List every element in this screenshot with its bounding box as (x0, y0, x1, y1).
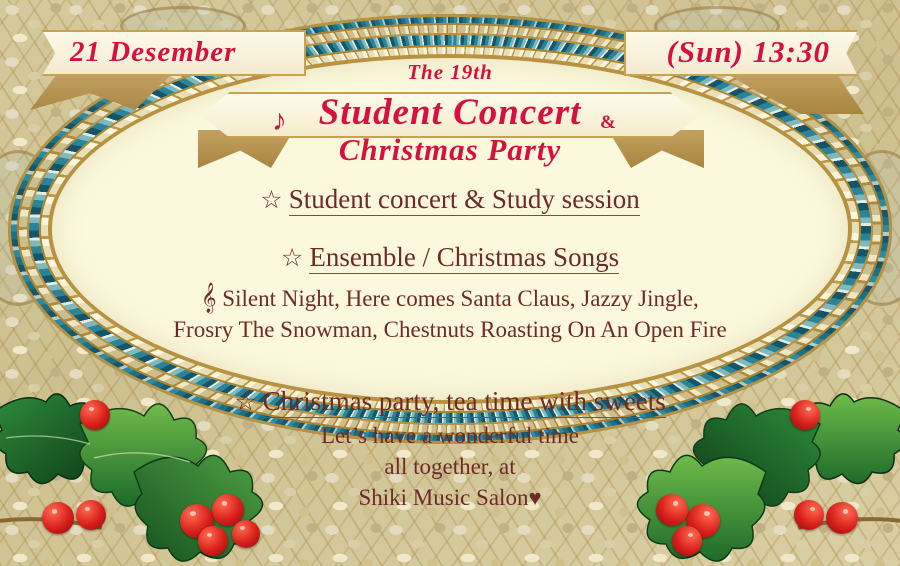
star-icon: ☆ (281, 245, 303, 272)
holly-right-svg (586, 372, 900, 566)
holly-berry (790, 400, 820, 430)
holly-berry (656, 494, 688, 526)
closing-line-1: Let’s have a wonderful time (321, 423, 579, 448)
song-list: 𝄞 Silent Night, Here comes Santa Claus, … (0, 282, 900, 345)
ampersand-icon: & (600, 112, 616, 134)
program-item-1: ☆Student concert & Study session (0, 182, 900, 218)
christmas-concert-flyer: 21 Desember (Sun) 13:30 The 19th Student… (0, 0, 900, 566)
holly-berry (76, 500, 106, 530)
holly-left-svg (0, 372, 314, 566)
heart-icon: ♥ (528, 485, 541, 510)
holly-decoration-right (586, 372, 900, 566)
closing-line-2: all together, at (384, 454, 515, 479)
holly-berry (672, 526, 702, 556)
holly-berry (826, 502, 858, 534)
music-note-icon: ♪ (272, 104, 287, 138)
program-item-2: ☆Ensemble / Christmas Songs (0, 240, 900, 276)
holly-berry (198, 526, 228, 556)
title-prefix: The 19th (0, 60, 900, 85)
holly-berry (232, 520, 260, 548)
program-item-1-label: Student concert & Study session (289, 184, 640, 216)
closing-line-3: Shiki Music Salon (358, 485, 528, 510)
holly-berry (80, 400, 110, 430)
song-list-line-2: Frosry The Snowman, Chestnuts Roasting O… (173, 317, 726, 342)
holly-decoration-left (0, 372, 314, 566)
title-main: Student Concert (0, 92, 900, 134)
holly-berry (794, 500, 824, 530)
program-item-2-label: Ensemble / Christmas Songs (309, 242, 619, 274)
star-icon: ☆ (260, 187, 282, 214)
title-sub: Christmas Party (0, 132, 900, 168)
holly-berry (42, 502, 74, 534)
song-list-line-1: Silent Night, Here comes Santa Claus, Ja… (222, 286, 699, 311)
treble-clef-icon: 𝄞 (201, 283, 216, 312)
